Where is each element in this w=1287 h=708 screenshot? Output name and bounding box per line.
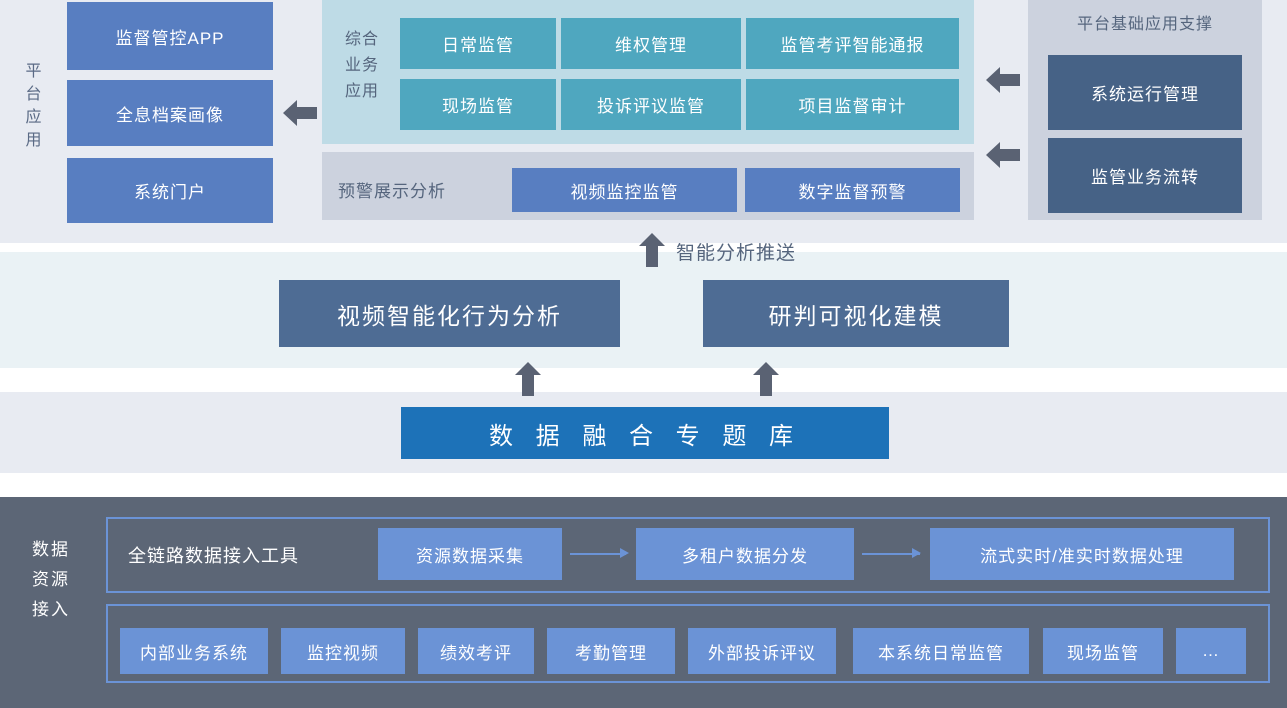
app-supervision-box[interactable]: 监督管控APP [67, 2, 273, 70]
flow-arrow-line [570, 553, 626, 555]
data-source-label: 数据 资源 接入 [20, 535, 82, 625]
project-audit-box[interactable]: 项目监督审计 [746, 79, 959, 130]
visual-modeling-box[interactable]: 研判可视化建模 [703, 280, 1009, 347]
arrow-up-icon [514, 362, 542, 396]
pipeline-title: 全链路数据接入工具 [128, 542, 299, 568]
source-item-more[interactable]: … [1176, 628, 1246, 674]
business-application-label: 综合业务应用 [336, 27, 388, 105]
stream-processing-box[interactable]: 流式实时/准实时数据处理 [930, 528, 1234, 580]
resource-data-collection-box[interactable]: 资源数据采集 [378, 528, 562, 580]
source-item[interactable]: 外部投诉评议 [688, 628, 836, 674]
system-portal-box[interactable]: 系统门户 [67, 158, 273, 223]
onsite-supervision-box[interactable]: 现场监管 [400, 79, 556, 130]
arrow-up-icon [638, 233, 666, 267]
source-item[interactable]: 内部业务系统 [120, 628, 268, 674]
platform-layer-label: 平台应用 [14, 60, 54, 152]
source-item[interactable]: 监控视频 [281, 628, 405, 674]
arrow-left-icon [986, 140, 1020, 170]
intelligent-analysis-push-label: 智能分析推送 [676, 238, 796, 265]
arrow-left-icon [283, 98, 317, 128]
data-source-label-line: 接入 [20, 595, 82, 625]
supervision-business-flow-box[interactable]: 监管业务流转 [1048, 138, 1242, 213]
source-item[interactable]: 绩效考评 [418, 628, 534, 674]
source-item[interactable]: 考勤管理 [547, 628, 675, 674]
flow-arrow-head-icon [620, 548, 629, 558]
multi-tenant-distribution-box[interactable]: 多租户数据分发 [636, 528, 854, 580]
warning-analysis-label: 预警展示分析 [338, 177, 504, 202]
holographic-archive-box[interactable]: 全息档案画像 [67, 80, 273, 146]
platform-support-title: 平台基础应用支撑 [1028, 10, 1262, 34]
source-item[interactable]: 本系统日常监管 [853, 628, 1029, 674]
rights-protection-box[interactable]: 维权管理 [561, 18, 741, 69]
digital-supervision-alert-box[interactable]: 数字监督预警 [745, 168, 960, 212]
arrow-left-icon [986, 65, 1020, 95]
assessment-notification-box[interactable]: 监管考评智能通报 [746, 18, 959, 69]
video-monitoring-box[interactable]: 视频监控监管 [512, 168, 737, 212]
video-behaviour-analysis-box[interactable]: 视频智能化行为分析 [279, 280, 620, 347]
arrow-up-icon [752, 362, 780, 396]
complaint-review-box[interactable]: 投诉评议监管 [561, 79, 741, 130]
data-source-label-line: 数据 [20, 535, 82, 565]
source-item[interactable]: 现场监管 [1043, 628, 1163, 674]
data-source-label-line: 资源 [20, 565, 82, 595]
data-fusion-library-box[interactable]: 数 据 融 合 专 题 库 [401, 407, 889, 459]
flow-arrow-head-icon [912, 548, 921, 558]
analysis-band [0, 252, 1287, 368]
daily-supervision-box[interactable]: 日常监管 [400, 18, 556, 69]
system-operation-management-box[interactable]: 系统运行管理 [1048, 55, 1242, 130]
